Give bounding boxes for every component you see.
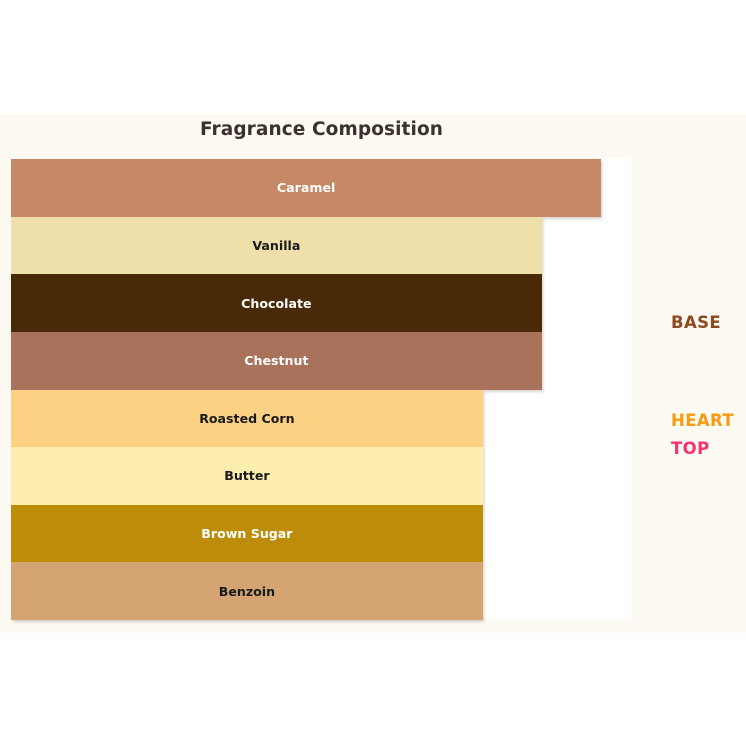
stage-label-heart: HEART [671, 411, 734, 430]
bar-row: Benzoin [11, 562, 631, 620]
bar-benzoin[interactable] [11, 562, 483, 620]
bar-row: Vanilla [11, 217, 631, 275]
bar-vanilla[interactable] [11, 217, 542, 275]
bar-row: Roasted Corn [11, 390, 631, 448]
bar-row: Chocolate [11, 274, 631, 332]
plot-area: CaramelVanillaChocolateChestnutRoasted C… [11, 159, 631, 620]
bar-chocolate[interactable] [11, 274, 542, 332]
stage-label-base: BASE [671, 313, 721, 332]
bar-chestnut[interactable] [11, 332, 542, 390]
bar-brown-sugar[interactable] [11, 505, 483, 563]
bar-butter[interactable] [11, 447, 483, 505]
bar-caramel[interactable] [11, 159, 601, 217]
bar-roasted-corn[interactable] [11, 390, 483, 448]
bar-row: Caramel [11, 159, 631, 217]
stage-label-top: TOP [671, 439, 710, 458]
bar-row: Brown Sugar [11, 505, 631, 563]
bar-row: Chestnut [11, 332, 631, 390]
chart-canvas: Fragrance Composition CaramelVanillaChoc… [0, 0, 746, 746]
bar-row: Butter [11, 447, 631, 505]
page-title: Fragrance Composition [0, 119, 643, 140]
